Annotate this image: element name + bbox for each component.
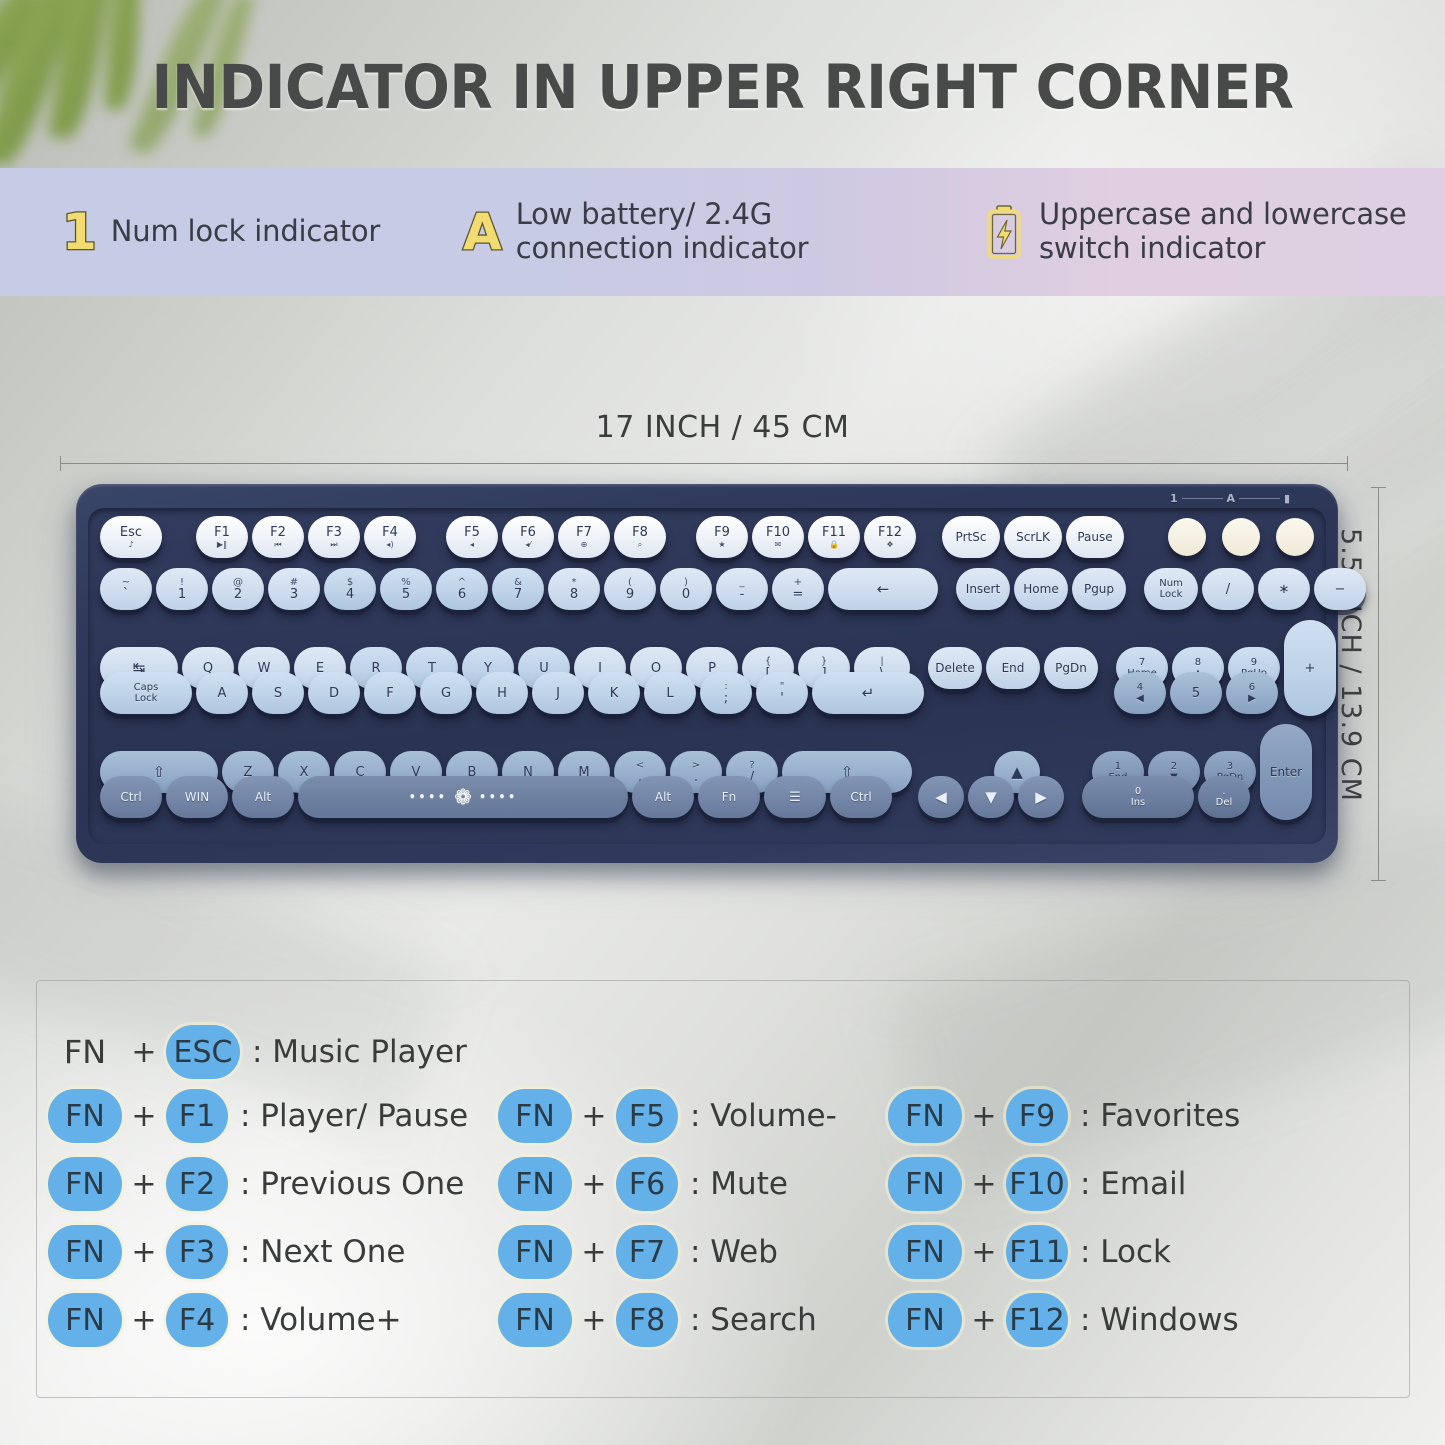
key-label-media: ◂ <box>470 541 474 549</box>
shortcut-key-badge: F12 <box>1006 1293 1068 1347</box>
shortcut-description: : Previous One <box>240 1166 464 1202</box>
shortcut-key-badge: F5 <box>616 1089 678 1143</box>
key-label: Num Lock <box>1159 578 1183 600</box>
key-f1[interactable]: F1▶‖ <box>196 516 248 558</box>
key-label: ∗ <box>1279 583 1290 596</box>
shortcut-key-badge: F10 <box>1006 1157 1068 1211</box>
indicator-label-battery-connection: Low battery/ 2.4G connection indicator <box>516 198 809 265</box>
shortcut-row-f12: FN+F12: Windows <box>888 1286 1338 1354</box>
key-capslock[interactable]: Caps Lock <box>100 672 192 714</box>
key-label: Ctrl <box>850 791 871 803</box>
page-title: INDICATOR IN UPPER RIGHT CORNER <box>58 52 1387 123</box>
shortcut-fn-badge: FN <box>498 1157 572 1211</box>
key-label: Enter <box>1270 766 1302 778</box>
shortcut-row-f3: FN+F3: Next One <box>48 1218 498 1286</box>
key-blank[interactable]: / <box>1202 568 1254 610</box>
key-label-secondary: @ <box>233 578 243 588</box>
key-del[interactable]: . Del <box>1198 776 1250 818</box>
key-label: Caps Lock <box>134 682 159 704</box>
key-j[interactable]: J <box>532 672 584 714</box>
shortcut-row-f2: FN+F2: Previous One <box>48 1150 498 1218</box>
key-1[interactable]: !1 <box>156 568 208 610</box>
key-label-media: ◂) <box>386 541 393 549</box>
key-label-media: ⊕ <box>581 541 588 549</box>
key-label: Esc <box>120 526 142 539</box>
key-label: D <box>329 687 339 700</box>
key-label: F2 <box>270 526 286 539</box>
shortcut-row-f6: FN+F6: Mute <box>498 1150 888 1218</box>
case-indicator-rule-2 <box>1239 498 1280 499</box>
key-label-media: ⌕ <box>638 541 642 549</box>
key-6[interactable]: 6 ▶ <box>1226 672 1278 714</box>
key-label-media: ⏮ <box>274 541 281 549</box>
shortcut-plus: + <box>962 1167 1006 1202</box>
shortcut-fn-badge: FN <box>888 1293 962 1347</box>
key-label: 6 ▶ <box>1248 682 1256 704</box>
height-dimension-line <box>1378 487 1379 881</box>
key-blank[interactable]: ↵ <box>812 672 924 714</box>
key-label: 4 <box>346 588 354 601</box>
case-indicator-a: A <box>1227 492 1236 505</box>
key-f5[interactable]: F5◂ <box>446 516 498 558</box>
key-label-secondary: < <box>636 761 644 771</box>
key-k[interactable]: K <box>588 672 640 714</box>
key-blank[interactable]: − <box>1314 568 1366 610</box>
shortcut-fn-badge: FN <box>888 1157 962 1211</box>
key-2[interactable]: @2 <box>212 568 264 610</box>
key-fn[interactable]: Fn <box>698 776 760 818</box>
shortcut-fn-badge: FN <box>498 1293 572 1347</box>
shortcut-fn-badge: FN <box>48 1089 122 1143</box>
key-label-secondary: * <box>572 578 577 588</box>
shortcut-column-3: FN+F9: FavoritesFN+F10: EmailFN+F11: Loc… <box>888 1082 1338 1354</box>
shortcut-plus: + <box>122 1099 166 1134</box>
shortcut-row-f11: FN+F11: Lock <box>888 1218 1338 1286</box>
shortcut-description: : Music Player <box>252 1034 467 1070</box>
keyboard-row-number: ~`!1@2#3$4%5^6&7*8(9)0_-+=←InsertHomePgu… <box>100 568 1370 610</box>
shortcut-plus: + <box>962 1235 1006 1270</box>
key-label: 8 <box>570 588 578 601</box>
key-label: F9 <box>714 526 730 539</box>
shortcut-plus: + <box>962 1303 1006 1338</box>
key-f10[interactable]: F10✉ <box>752 516 804 558</box>
key-label: / <box>1226 583 1230 596</box>
key-alt[interactable]: Alt <box>232 776 294 818</box>
key-label: Alt <box>655 791 671 803</box>
key-label: J <box>556 687 560 700</box>
key-label: ◀ <box>935 790 947 805</box>
battery-bolt-icon <box>985 205 1023 259</box>
key-label: 9 <box>626 588 634 601</box>
key-label-secondary: } <box>821 657 827 667</box>
key-label-secondary: ( <box>628 578 632 588</box>
key-label-secondary: ^ <box>458 578 466 588</box>
key-home[interactable]: Home <box>1014 568 1068 610</box>
key-label: Fn <box>722 791 737 803</box>
key-pgup[interactable]: Pgup <box>1072 568 1126 610</box>
shortcut-row-f10: FN+F10: Email <box>888 1150 1338 1218</box>
shortcut-row-f4: FN+F4: Volume+ <box>48 1286 498 1354</box>
shortcut-key-badge: F8 <box>616 1293 678 1347</box>
key-label-secondary: % <box>401 578 411 588</box>
key-label: ☰ <box>789 791 801 804</box>
key-label: PrtSc <box>956 531 987 543</box>
numlock-digit-icon: 1 <box>62 207 97 257</box>
width-dimension-line <box>60 463 1348 464</box>
key-label-secondary: ? <box>749 761 754 771</box>
key-label: K <box>610 687 619 700</box>
shortcut-plus: + <box>122 1035 166 1070</box>
spacebar-dots-right: •••• <box>479 790 518 805</box>
case-indicator-rule-1 <box>1182 498 1223 499</box>
indicator-label-caps: Uppercase and lowercase switch indicator <box>1039 198 1407 265</box>
shortcut-fn-badge: FN <box>888 1225 962 1279</box>
key-label: ▶ <box>1035 790 1047 805</box>
keyboard-row-home: Caps LockASDFGHJKL:;"'↵4 ◀56 ▶ <box>100 672 1282 714</box>
key-label: ` <box>123 588 130 601</box>
key-blank[interactable]: ◀ <box>918 776 964 818</box>
key-f12[interactable]: F12❖ <box>864 516 916 558</box>
key-label-secondary: ) <box>684 578 688 588</box>
shortcut-row-f7: FN+F7: Web <box>498 1218 888 1286</box>
keyboard-plate: Esc♪F1▶‖F2⏮F3⏭F4◂)F5◂F6◂⁄F7⊕F8⌕F9★F10✉F1… <box>88 508 1326 844</box>
shortcut-column-2: FN+F5: Volume-FN+F6: MuteFN+F7: WebFN+F8… <box>498 1082 888 1354</box>
key-label-media: 🔒 <box>829 541 839 549</box>
key-label-secondary: _ <box>740 578 745 588</box>
shortcut-fn-badge: FN <box>498 1089 572 1143</box>
shortcut-fn-badge: FN <box>888 1089 962 1143</box>
key-9[interactable]: (9 <box>604 568 656 610</box>
key-blank[interactable]: ∗ <box>1258 568 1310 610</box>
key-label: - <box>740 588 745 601</box>
shortcut-description: : Windows <box>1080 1302 1239 1338</box>
key-pause[interactable]: Pause <box>1066 516 1124 558</box>
key-label: + <box>1305 662 1316 675</box>
key-label: F8 <box>632 526 648 539</box>
shortcut-row-esc: FN + ESC : Music Player <box>48 1018 748 1086</box>
indicator-legend-band: 1 Num lock indicator A Low battery/ 2.4G… <box>0 168 1445 296</box>
shortcut-row-f8: FN+F8: Search <box>498 1286 888 1354</box>
key-label: . Del <box>1216 786 1233 808</box>
key-blank[interactable]: :; <box>700 672 752 714</box>
key-label-secondary: " <box>780 682 785 692</box>
key-f8[interactable]: F8⌕ <box>614 516 666 558</box>
key-label: A <box>218 687 227 700</box>
key-label-secondary: $ <box>347 578 353 588</box>
shortcut-fn-badge: FN <box>498 1225 572 1279</box>
key-blank[interactable]: ☰ <box>764 776 826 818</box>
key-label: Ctrl <box>120 791 141 803</box>
key-label-secondary: ! <box>180 578 184 588</box>
keyboard-row-bottom: CtrlWINAlt••••❁••••AltFn☰Ctrl◀▼▶0 Ins. D… <box>100 776 1254 818</box>
key-win[interactable]: WIN <box>166 776 228 818</box>
key-7[interactable]: &7 <box>492 568 544 610</box>
key-label: 0 Ins <box>1131 786 1146 808</box>
shortcut-description: : Mute <box>690 1166 788 1202</box>
shortcut-row-f1: FN+F1: Player/ Pause <box>48 1082 498 1150</box>
shortcut-plus: + <box>122 1167 166 1202</box>
key-label-secondary: > <box>692 761 700 771</box>
key-label: WIN <box>185 791 209 803</box>
key-esc[interactable]: Esc♪ <box>100 516 162 558</box>
shortcut-row-f5: FN+F5: Volume- <box>498 1082 888 1150</box>
key-f4[interactable]: F4◂) <box>364 516 416 558</box>
keyboard-product-image: 1 A ▮ Esc♪F1▶‖F2⏮F3⏭F4◂)F5◂F6◂⁄F7⊕F8⌕F9★… <box>76 484 1338 863</box>
key-d[interactable]: D <box>308 672 360 714</box>
spacebar-dots-left: •••• <box>409 790 448 805</box>
shortcut-description: : Search <box>690 1302 817 1338</box>
key-label-secondary: ~ <box>122 578 130 588</box>
case-indicator-battery: ▮ <box>1284 492 1290 505</box>
key-label-media: ✉ <box>775 541 782 549</box>
key-l[interactable]: L <box>644 672 696 714</box>
key-label: ; <box>724 692 728 705</box>
spacebar-brand-mark: ❁ <box>454 787 472 808</box>
key-label: Alt <box>255 791 271 803</box>
key-3[interactable]: #3 <box>268 568 320 610</box>
key-blank[interactable]: + <box>1284 620 1336 716</box>
key-scrlk[interactable]: ScrLK <box>1004 516 1062 558</box>
key-label: ▼ <box>985 790 997 805</box>
key-g[interactable]: G <box>420 672 472 714</box>
key-label: ← <box>877 582 890 597</box>
key-label: F <box>386 687 393 700</box>
key-label: ↵ <box>862 686 875 701</box>
key-label-secondary: & <box>514 578 522 588</box>
shortcut-plus: + <box>572 1235 616 1270</box>
indicator-item-caps: Uppercase and lowercase switch indicator <box>945 168 1445 296</box>
key-f7[interactable]: F7⊕ <box>558 516 610 558</box>
key-label: ' <box>780 692 784 705</box>
shortcut-column-1: FN+F1: Player/ PauseFN+F2: Previous OneF… <box>48 1082 498 1354</box>
indicator-label-numlock: Num lock indicator <box>111 215 380 249</box>
shortcut-fn-badge: FN <box>48 1225 122 1279</box>
shortcut-description: : Volume- <box>690 1098 837 1134</box>
key-label: ScrLK <box>1016 531 1050 543</box>
key-label: Pause <box>1077 531 1112 543</box>
key-label: = <box>793 588 804 601</box>
key-s[interactable]: S <box>252 672 304 714</box>
shortcut-key-badge: F6 <box>616 1157 678 1211</box>
key-4[interactable]: 4 ◀ <box>1114 672 1166 714</box>
key-h[interactable]: H <box>476 672 528 714</box>
key-insert[interactable]: Insert <box>956 568 1010 610</box>
shortcut-description: : Email <box>1080 1166 1186 1202</box>
shortcut-description: : Volume+ <box>240 1302 402 1338</box>
key-label: G <box>441 687 451 700</box>
key-label: F3 <box>326 526 342 539</box>
key-ctrl[interactable]: Ctrl <box>830 776 892 818</box>
spacebar-logo: ••••❁•••• <box>409 787 518 808</box>
key-blank[interactable] <box>1222 518 1260 556</box>
key-label: S <box>274 687 282 700</box>
key-label-secondary: : <box>724 682 727 692</box>
key-blank[interactable]: ← <box>828 568 938 610</box>
key-label: F5 <box>464 526 480 539</box>
key-blank[interactable] <box>1168 518 1206 556</box>
shortcut-plus: + <box>962 1099 1006 1134</box>
key-label-media: ▶‖ <box>217 541 227 549</box>
key-blank[interactable]: += <box>772 568 824 610</box>
key-label: F12 <box>878 526 902 539</box>
shortcut-description: : Player/ Pause <box>240 1098 468 1134</box>
key-numlock[interactable]: Num Lock <box>1144 568 1198 610</box>
key-label: 4 ◀ <box>1136 682 1144 704</box>
key-label-secondary: | <box>880 657 883 667</box>
width-dimension-label: 17 INCH / 45 CM <box>0 410 1445 445</box>
shortcut-key-badge: F9 <box>1006 1089 1068 1143</box>
key-label: 7 <box>514 588 522 601</box>
shortcut-columns: FN+F1: Player/ PauseFN+F2: Previous OneF… <box>48 1082 1398 1354</box>
key-f2[interactable]: F2⏮ <box>252 516 304 558</box>
key-ctrl[interactable]: Ctrl <box>100 776 162 818</box>
shortcut-plus: + <box>122 1303 166 1338</box>
key-alt[interactable]: Alt <box>632 776 694 818</box>
key-blank[interactable]: ~` <box>100 568 152 610</box>
key-label-secondary: # <box>290 578 298 588</box>
key-label: F7 <box>576 526 592 539</box>
shortcut-description: : Lock <box>1080 1234 1171 1270</box>
shortcut-plus: + <box>122 1235 166 1270</box>
shortcut-key-badge: ESC <box>166 1025 240 1079</box>
key-spacebar[interactable]: ••••❁•••• <box>298 776 628 818</box>
key-f[interactable]: F <box>364 672 416 714</box>
case-indicator-1: 1 <box>1170 492 1178 505</box>
shortcut-fn-badge: FN <box>48 1157 122 1211</box>
shortcut-plus: + <box>572 1099 616 1134</box>
letter-a-icon: A <box>463 207 502 257</box>
key-blank[interactable]: "' <box>756 672 808 714</box>
key-label: Insert <box>966 583 1000 595</box>
key-prtsc[interactable]: PrtSc <box>942 516 1000 558</box>
key-label: 0 <box>682 588 690 601</box>
key-f9[interactable]: F9★ <box>696 516 748 558</box>
shortcut-plus: + <box>572 1167 616 1202</box>
key-label: F11 <box>822 526 846 539</box>
key-label: L <box>666 687 673 700</box>
key-4[interactable]: $4 <box>324 568 376 610</box>
shortcut-description: : Web <box>690 1234 778 1270</box>
key-label: 5 <box>402 588 410 601</box>
key-label: F6 <box>520 526 536 539</box>
key-8[interactable]: *8 <box>548 568 600 610</box>
keyboard-row-function: Esc♪F1▶‖F2⏮F3⏭F4◂)F5◂F6◂⁄F7⊕F8⌕F9★F10✉F1… <box>100 516 1318 558</box>
key-blank[interactable] <box>1276 518 1314 556</box>
key-blank[interactable]: ▶ <box>1018 776 1064 818</box>
key-label: 2 <box>234 588 242 601</box>
shortcut-key-badge: F11 <box>1006 1225 1068 1279</box>
key-label-media: ♪ <box>128 541 133 549</box>
case-indicator-marks: 1 A ▮ <box>1170 490 1290 506</box>
key-0ins[interactable]: 0 Ins <box>1082 776 1194 818</box>
shortcut-key-badge: F3 <box>166 1225 228 1279</box>
key-blank[interactable]: ▼ <box>968 776 1014 818</box>
shortcut-key-badge: F4 <box>166 1293 228 1347</box>
shortcut-key-badge: F1 <box>166 1089 228 1143</box>
key-label: H <box>497 687 507 700</box>
key-label-media: ◂⁄ <box>525 541 530 549</box>
shortcut-key-badge: F7 <box>616 1225 678 1279</box>
key-label: F10 <box>766 526 790 539</box>
key-label-media: ★ <box>718 541 725 549</box>
key-label: Pgup <box>1084 583 1114 595</box>
shortcut-fn-label: FN <box>48 1033 122 1071</box>
indicator-item-battery-connection: A Low battery/ 2.4G connection indicator <box>455 168 945 296</box>
key-f6[interactable]: F6◂⁄ <box>502 516 554 558</box>
key-5[interactable]: 5 <box>1170 672 1222 714</box>
key-f11[interactable]: F11🔒 <box>808 516 860 558</box>
indicator-item-numlock: 1 Num lock indicator <box>0 168 455 296</box>
shortcut-description: : Favorites <box>1080 1098 1240 1134</box>
key-6[interactable]: ^6 <box>436 568 488 610</box>
shortcut-fn-badge: FN <box>48 1293 122 1347</box>
key-label-media: ❖ <box>886 541 893 549</box>
key-5[interactable]: %5 <box>380 568 432 610</box>
key-enter[interactable]: Enter <box>1260 724 1312 820</box>
key-label-secondary: + <box>794 578 802 588</box>
key-label-secondary: { <box>765 657 771 667</box>
key-label: 6 <box>458 588 466 601</box>
key-label-media: ⏭ <box>330 541 337 549</box>
key-label: 5 <box>1192 687 1200 700</box>
key-label: F4 <box>382 526 398 539</box>
key-label: Home <box>1023 583 1058 595</box>
shortcut-row-f9: FN+F9: Favorites <box>888 1082 1338 1150</box>
key-f3[interactable]: F3⏭ <box>308 516 360 558</box>
key-label: 3 <box>290 588 298 601</box>
key-a[interactable]: A <box>196 672 248 714</box>
key-label: 1 <box>178 588 186 601</box>
shortcut-key-badge: F2 <box>166 1157 228 1211</box>
key-blank[interactable]: _- <box>716 568 768 610</box>
shortcut-plus: + <box>572 1303 616 1338</box>
key-label: − <box>1335 583 1346 596</box>
shortcut-header-row: FN + ESC : Music Player <box>48 1018 748 1086</box>
key-label: F1 <box>214 526 230 539</box>
key-0[interactable]: )0 <box>660 568 712 610</box>
shortcut-description: : Next One <box>240 1234 406 1270</box>
